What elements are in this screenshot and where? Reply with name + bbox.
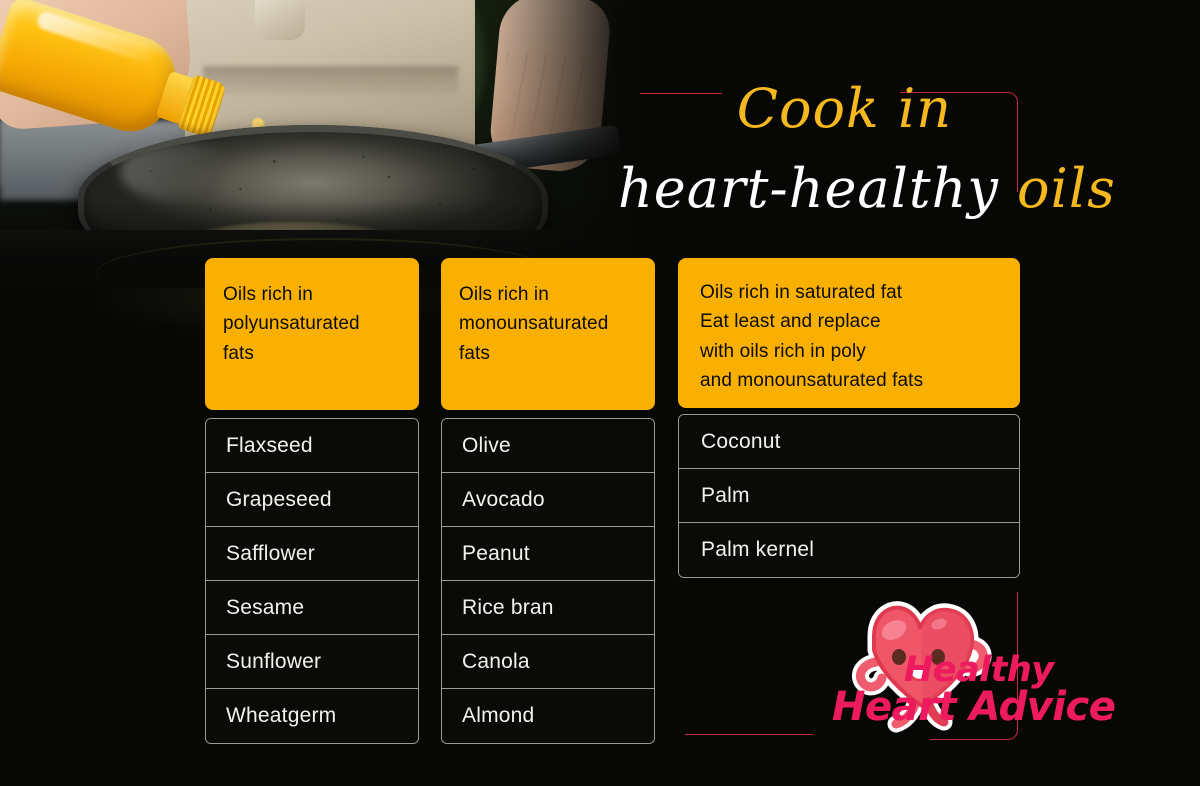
column-header-polyunsaturated: Oils rich in polyunsaturated fats [205,258,419,410]
logo-word-heart-advice: Heart AdviceHeart Advice [832,684,1115,730]
list-item: Rice bran [442,581,654,635]
list-item: Olive [442,419,654,473]
column-header-saturated: Oils rich in saturated fat Eat least and… [678,258,1020,408]
column-header-line: Eat least and replace [700,307,1002,336]
list-item: Sunflower [206,635,418,689]
headline-line-2-white: heart-healthy [618,157,1017,220]
column-header-line: Oils rich in [459,280,637,309]
list-item: Sesame [206,581,418,635]
background-photo-cooking-oil [0,0,640,300]
headline-line-1: Cook in [600,72,1040,136]
list-item: Flaxseed [206,419,418,473]
column-polyunsaturated: Oils rich in polyunsaturated fats Flaxse… [205,258,419,744]
brand-logo[interactable]: HealthyHealthy Heart AdviceHeart Advice [812,592,1052,747]
column-monounsaturated: Oils rich in monounsaturated fats Olive … [441,258,655,744]
headline-line-2: heart-healthy oils [600,136,1040,216]
list-item: Palm [679,469,1019,523]
list-item: Canola [442,635,654,689]
list-item: Peanut [442,527,654,581]
oil-list-monounsaturated: Olive Avocado Peanut Rice bran Canola Al… [441,418,655,744]
list-item: Grapeseed [206,473,418,527]
headline: Cook in heart-healthy oils [600,72,1040,242]
list-item: Safflower [206,527,418,581]
column-header-line: fats [459,339,637,368]
oil-list-saturated: Coconut Palm Palm kernel [678,414,1020,578]
logo-word-heart-advice-fill: Heart Advice [832,684,1115,730]
column-saturated: Oils rich in saturated fat Eat least and… [678,258,1020,578]
column-header-monounsaturated: Oils rich in monounsaturated fats [441,258,655,410]
infographic-canvas: Cook in heart-healthy oils Oils rich in … [0,0,1200,786]
column-header-line: fats [223,339,401,368]
column-header-line: polyunsaturated [223,309,401,338]
oil-list-polyunsaturated: Flaxseed Grapeseed Safflower Sesame Sunf… [205,418,419,744]
column-header-line: Oils rich in [223,280,401,309]
list-item: Coconut [679,415,1019,469]
column-header-line: Oils rich in saturated fat [700,278,1002,307]
deco-line-bottom-left [685,734,813,735]
headline-line-2-accent: oils [1017,157,1116,220]
column-header-line: monounsaturated [459,309,637,338]
list-item: Almond [442,689,654,743]
column-header-line: and monounsaturated fats [700,366,1002,395]
photo-apron-knot [255,0,305,40]
column-header-line: with oils rich in poly [700,337,1002,366]
list-item: Palm kernel [679,523,1019,577]
list-item: Wheatgerm [206,689,418,743]
list-item: Avocado [442,473,654,527]
